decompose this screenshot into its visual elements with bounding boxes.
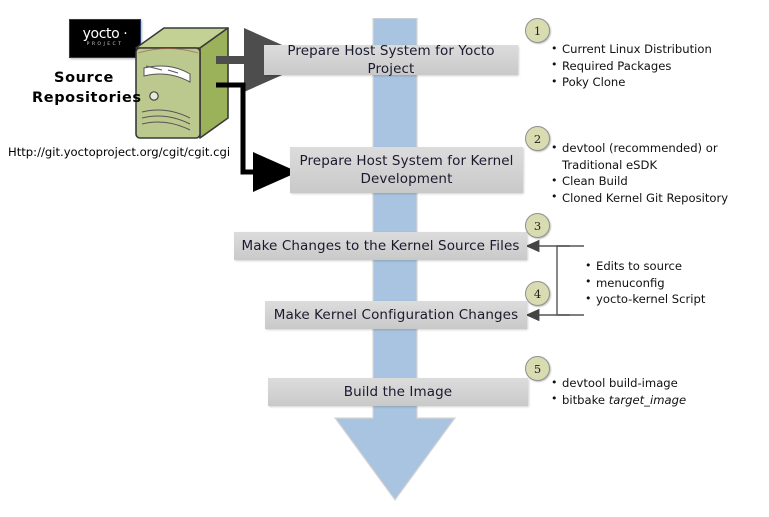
step-number-badge-3: 3	[525, 213, 550, 238]
step-number-badge-2: 2	[525, 126, 550, 151]
bullet-list-steps-3-4: Edits to source menuconfig yocto-kernel …	[585, 258, 705, 308]
bullet-item: Required Packages	[551, 58, 712, 75]
bullet-item: Clean Build	[551, 173, 728, 190]
process-box-step-1-label: Prepare Host System for Yocto Project	[264, 42, 518, 78]
bullet-list-step-1: Current Linux Distribution Required Pack…	[551, 41, 712, 91]
bullet-item-continuation: Traditional eSDK	[551, 157, 728, 174]
step-number-badge-1: 1	[525, 18, 550, 43]
process-box-step-1[interactable]: Prepare Host System for Yocto Project	[264, 45, 518, 75]
step-number-2: 2	[534, 132, 541, 146]
step-number-badge-5: 5	[525, 356, 550, 381]
bullet-list-step-2: devtool (recommended) or Traditional eSD…	[551, 140, 728, 206]
bullet-item: yocto-kernel Script	[585, 291, 705, 308]
bullet-item: Edits to source	[585, 258, 705, 275]
bullet-item: menuconfig	[585, 275, 705, 292]
step-number-1: 1	[534, 24, 541, 38]
bullet-item-bitbake: bitbake target_image	[551, 392, 686, 409]
step-number-5: 5	[534, 362, 541, 376]
process-box-step-3[interactable]: Make Changes to the Kernel Source Files	[234, 232, 527, 260]
process-box-step-2-label-line1: Prepare Host System for Kernel	[299, 152, 513, 170]
step-number-3: 3	[534, 219, 541, 233]
process-box-step-4-label: Make Kernel Configuration Changes	[274, 306, 518, 324]
bullet-item: devtool (recommended) or	[551, 140, 728, 157]
process-box-step-2[interactable]: Prepare Host System for Kernel Developme…	[290, 147, 523, 193]
source-label-line2: Repositories	[32, 88, 136, 108]
source-repository-server-icon	[128, 26, 233, 146]
bullet-item: Cloned Kernel Git Repository	[551, 190, 728, 207]
bullet-item: devtool build-image	[551, 375, 686, 392]
source-repository-url: Http://git.yoctoproject.org/cgit/cgit.cg…	[8, 145, 230, 159]
bitbake-target-arg: target_image	[609, 393, 686, 407]
bullet-item: Current Linux Distribution	[551, 41, 712, 58]
source-repositories-label: Source Repositories	[32, 68, 136, 108]
process-box-step-5[interactable]: Build the Image	[268, 378, 528, 406]
main-flow-arrow	[330, 18, 470, 508]
diagram-canvas: yocto · PROJECT Source Repositor	[0, 0, 769, 517]
bullet-list-step-5: devtool build-image bitbake target_image	[551, 375, 686, 408]
bullet-item: Poky Clone	[551, 74, 712, 91]
step-number-4: 4	[534, 287, 541, 301]
bitbake-command: bitbake	[562, 393, 609, 407]
process-box-step-3-label: Make Changes to the Kernel Source Files	[241, 237, 519, 255]
process-box-step-4[interactable]: Make Kernel Configuration Changes	[265, 301, 527, 329]
process-box-step-2-label-line2: Development	[361, 170, 453, 188]
process-box-step-5-label: Build the Image	[344, 383, 452, 401]
step-number-badge-4: 4	[525, 281, 550, 306]
source-label-line1: Source	[32, 68, 136, 88]
